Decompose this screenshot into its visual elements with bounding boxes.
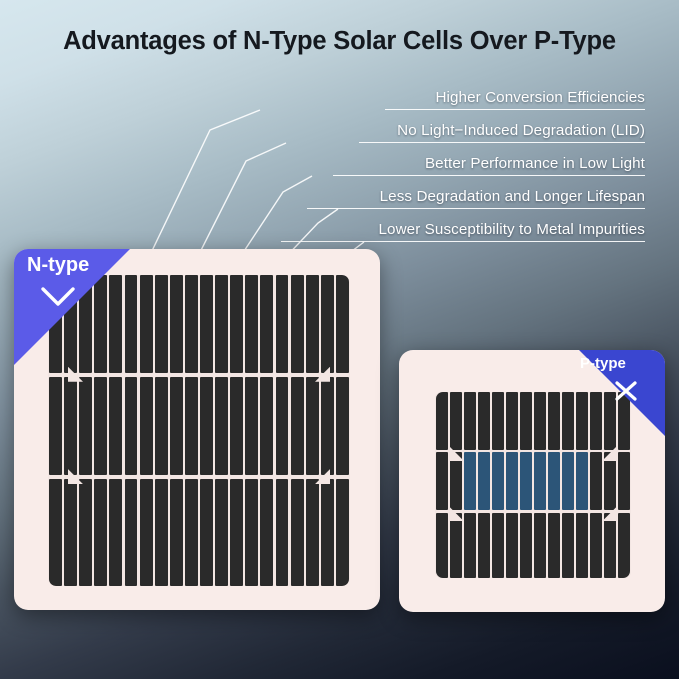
solar-cell-strip — [478, 513, 490, 578]
callout-label: Lower Susceptibility to Metal Impurities — [281, 221, 645, 241]
cell-band — [435, 513, 631, 578]
callout-underline — [281, 241, 645, 242]
solar-cell-strip — [618, 452, 630, 510]
solar-cell-strip — [450, 452, 462, 510]
solar-cell-strip — [291, 275, 304, 373]
solar-cell-strip — [590, 513, 602, 578]
solar-cell-strip — [321, 275, 334, 373]
solar-cell-strip — [306, 377, 319, 475]
solar-cell-strip — [562, 392, 574, 450]
solar-cell-strip — [185, 377, 198, 475]
solar-cell-strip — [276, 479, 289, 586]
solar-cell-strip — [94, 377, 107, 475]
solar-cell-strip — [185, 275, 198, 373]
solar-cell-strip — [492, 392, 504, 450]
solar-cell-strip — [155, 275, 168, 373]
solar-cell-strip — [306, 479, 319, 586]
solar-cell-strip — [436, 513, 448, 578]
check-icon — [38, 283, 78, 309]
solar-cell-strip — [140, 275, 153, 373]
solar-cell-strip — [200, 479, 213, 586]
solar-cell-strip — [336, 479, 349, 586]
callout-item: Less Degradation and Longer Lifespan — [307, 188, 645, 209]
cell-band — [48, 377, 350, 475]
solar-cell-strip — [125, 377, 138, 475]
solar-cell-strip — [230, 479, 243, 586]
infographic-canvas: Advantages of N-Type Solar Cells Over P-… — [0, 0, 679, 679]
solar-cell-strip — [140, 479, 153, 586]
solar-cell-strip — [260, 275, 273, 373]
solar-cell-strip — [260, 479, 273, 586]
solar-cell-strip — [245, 275, 258, 373]
degraded-cell-strip — [464, 452, 476, 510]
solar-cell-strip — [109, 479, 122, 586]
callout-item: No Light−Induced Degradation (LID) — [359, 122, 645, 143]
solar-cell-strip — [94, 479, 107, 586]
solar-cell-strip — [464, 392, 476, 450]
solar-cell-strip — [185, 479, 198, 586]
callout-item: Higher Conversion Efficiencies — [385, 89, 645, 110]
degraded-cell-strip — [562, 452, 574, 510]
solar-cell-strip — [506, 392, 518, 450]
solar-cell-strip — [478, 392, 490, 450]
degraded-cell-strip — [520, 452, 532, 510]
p-type-badge-label: P-type — [580, 355, 626, 372]
solar-cell-strip — [436, 392, 448, 450]
solar-cell-strip — [604, 452, 616, 510]
callout-underline — [385, 109, 645, 110]
solar-cell-strip — [215, 479, 228, 586]
cross-icon — [612, 378, 640, 404]
solar-cell-strip — [604, 513, 616, 578]
solar-cell-strip — [306, 275, 319, 373]
solar-cell-strip — [140, 377, 153, 475]
solar-cell-strip — [200, 377, 213, 475]
page-title: Advantages of N-Type Solar Cells Over P-… — [0, 27, 679, 56]
degraded-cell-strip — [506, 452, 518, 510]
solar-cell-strip — [125, 479, 138, 586]
solar-cell-strip — [534, 513, 546, 578]
solar-cell-strip — [618, 513, 630, 578]
solar-cell-strip — [450, 392, 462, 450]
callout-label: Less Degradation and Longer Lifespan — [307, 188, 645, 208]
solar-cell-strip — [291, 377, 304, 475]
solar-cell-strip — [109, 377, 122, 475]
degraded-cell-strip — [534, 452, 546, 510]
solar-cell-strip — [170, 479, 183, 586]
callout-underline — [333, 175, 645, 176]
degraded-cell-strip — [576, 452, 588, 510]
callout-item: Better Performance in Low Light — [333, 155, 645, 176]
solar-cell-strip — [291, 479, 304, 586]
solar-cell-strip — [492, 513, 504, 578]
solar-cell-strip — [79, 479, 92, 586]
solar-cell-strip — [464, 513, 476, 578]
solar-cell-strip — [336, 377, 349, 475]
cell-band — [48, 479, 350, 586]
solar-cell-strip — [276, 377, 289, 475]
solar-cell-strip — [321, 377, 334, 475]
solar-cell-strip — [590, 452, 602, 510]
solar-cell-strip — [534, 392, 546, 450]
degraded-cell-strip — [478, 452, 490, 510]
solar-cell-strip — [260, 377, 273, 475]
solar-cell-strip — [215, 275, 228, 373]
solar-cell-strip — [548, 513, 560, 578]
callout-item: Lower Susceptibility to Metal Impurities — [281, 221, 645, 242]
solar-cell-strip — [321, 479, 334, 586]
solar-cell-strip — [548, 392, 560, 450]
solar-cell-strip — [450, 513, 462, 578]
solar-cell-strip — [170, 275, 183, 373]
solar-cell-strip — [436, 452, 448, 510]
solar-cell-strip — [576, 513, 588, 578]
solar-cell-strip — [562, 513, 574, 578]
solar-cell-strip — [170, 377, 183, 475]
solar-cell-strip — [64, 479, 77, 586]
solar-cell-strip — [49, 377, 62, 475]
solar-cell-strip — [520, 513, 532, 578]
callout-label: Better Performance in Low Light — [333, 155, 645, 175]
callout-underline — [359, 142, 645, 143]
solar-cell-strip — [79, 377, 92, 475]
degraded-cell-strip — [492, 452, 504, 510]
solar-cell-strip — [245, 479, 258, 586]
solar-cell-strip — [64, 377, 77, 475]
solar-cell-strip — [276, 275, 289, 373]
n-type-badge-label: N-type — [27, 254, 89, 277]
callout-label: No Light−Induced Degradation (LID) — [359, 122, 645, 142]
solar-cell-strip — [215, 377, 228, 475]
degraded-cell-strip — [548, 452, 560, 510]
solar-cell-strip — [230, 377, 243, 475]
solar-cell-strip — [200, 275, 213, 373]
solar-cell-strip — [245, 377, 258, 475]
callout-label: Higher Conversion Efficiencies — [385, 89, 645, 109]
solar-cell-strip — [230, 275, 243, 373]
cell-band — [435, 452, 631, 510]
solar-cell-strip — [49, 479, 62, 586]
solar-cell-strip — [155, 377, 168, 475]
solar-cell-strip — [520, 392, 532, 450]
callout-underline — [307, 208, 645, 209]
solar-cell-strip — [155, 479, 168, 586]
solar-cell-strip — [506, 513, 518, 578]
solar-cell-strip — [336, 275, 349, 373]
